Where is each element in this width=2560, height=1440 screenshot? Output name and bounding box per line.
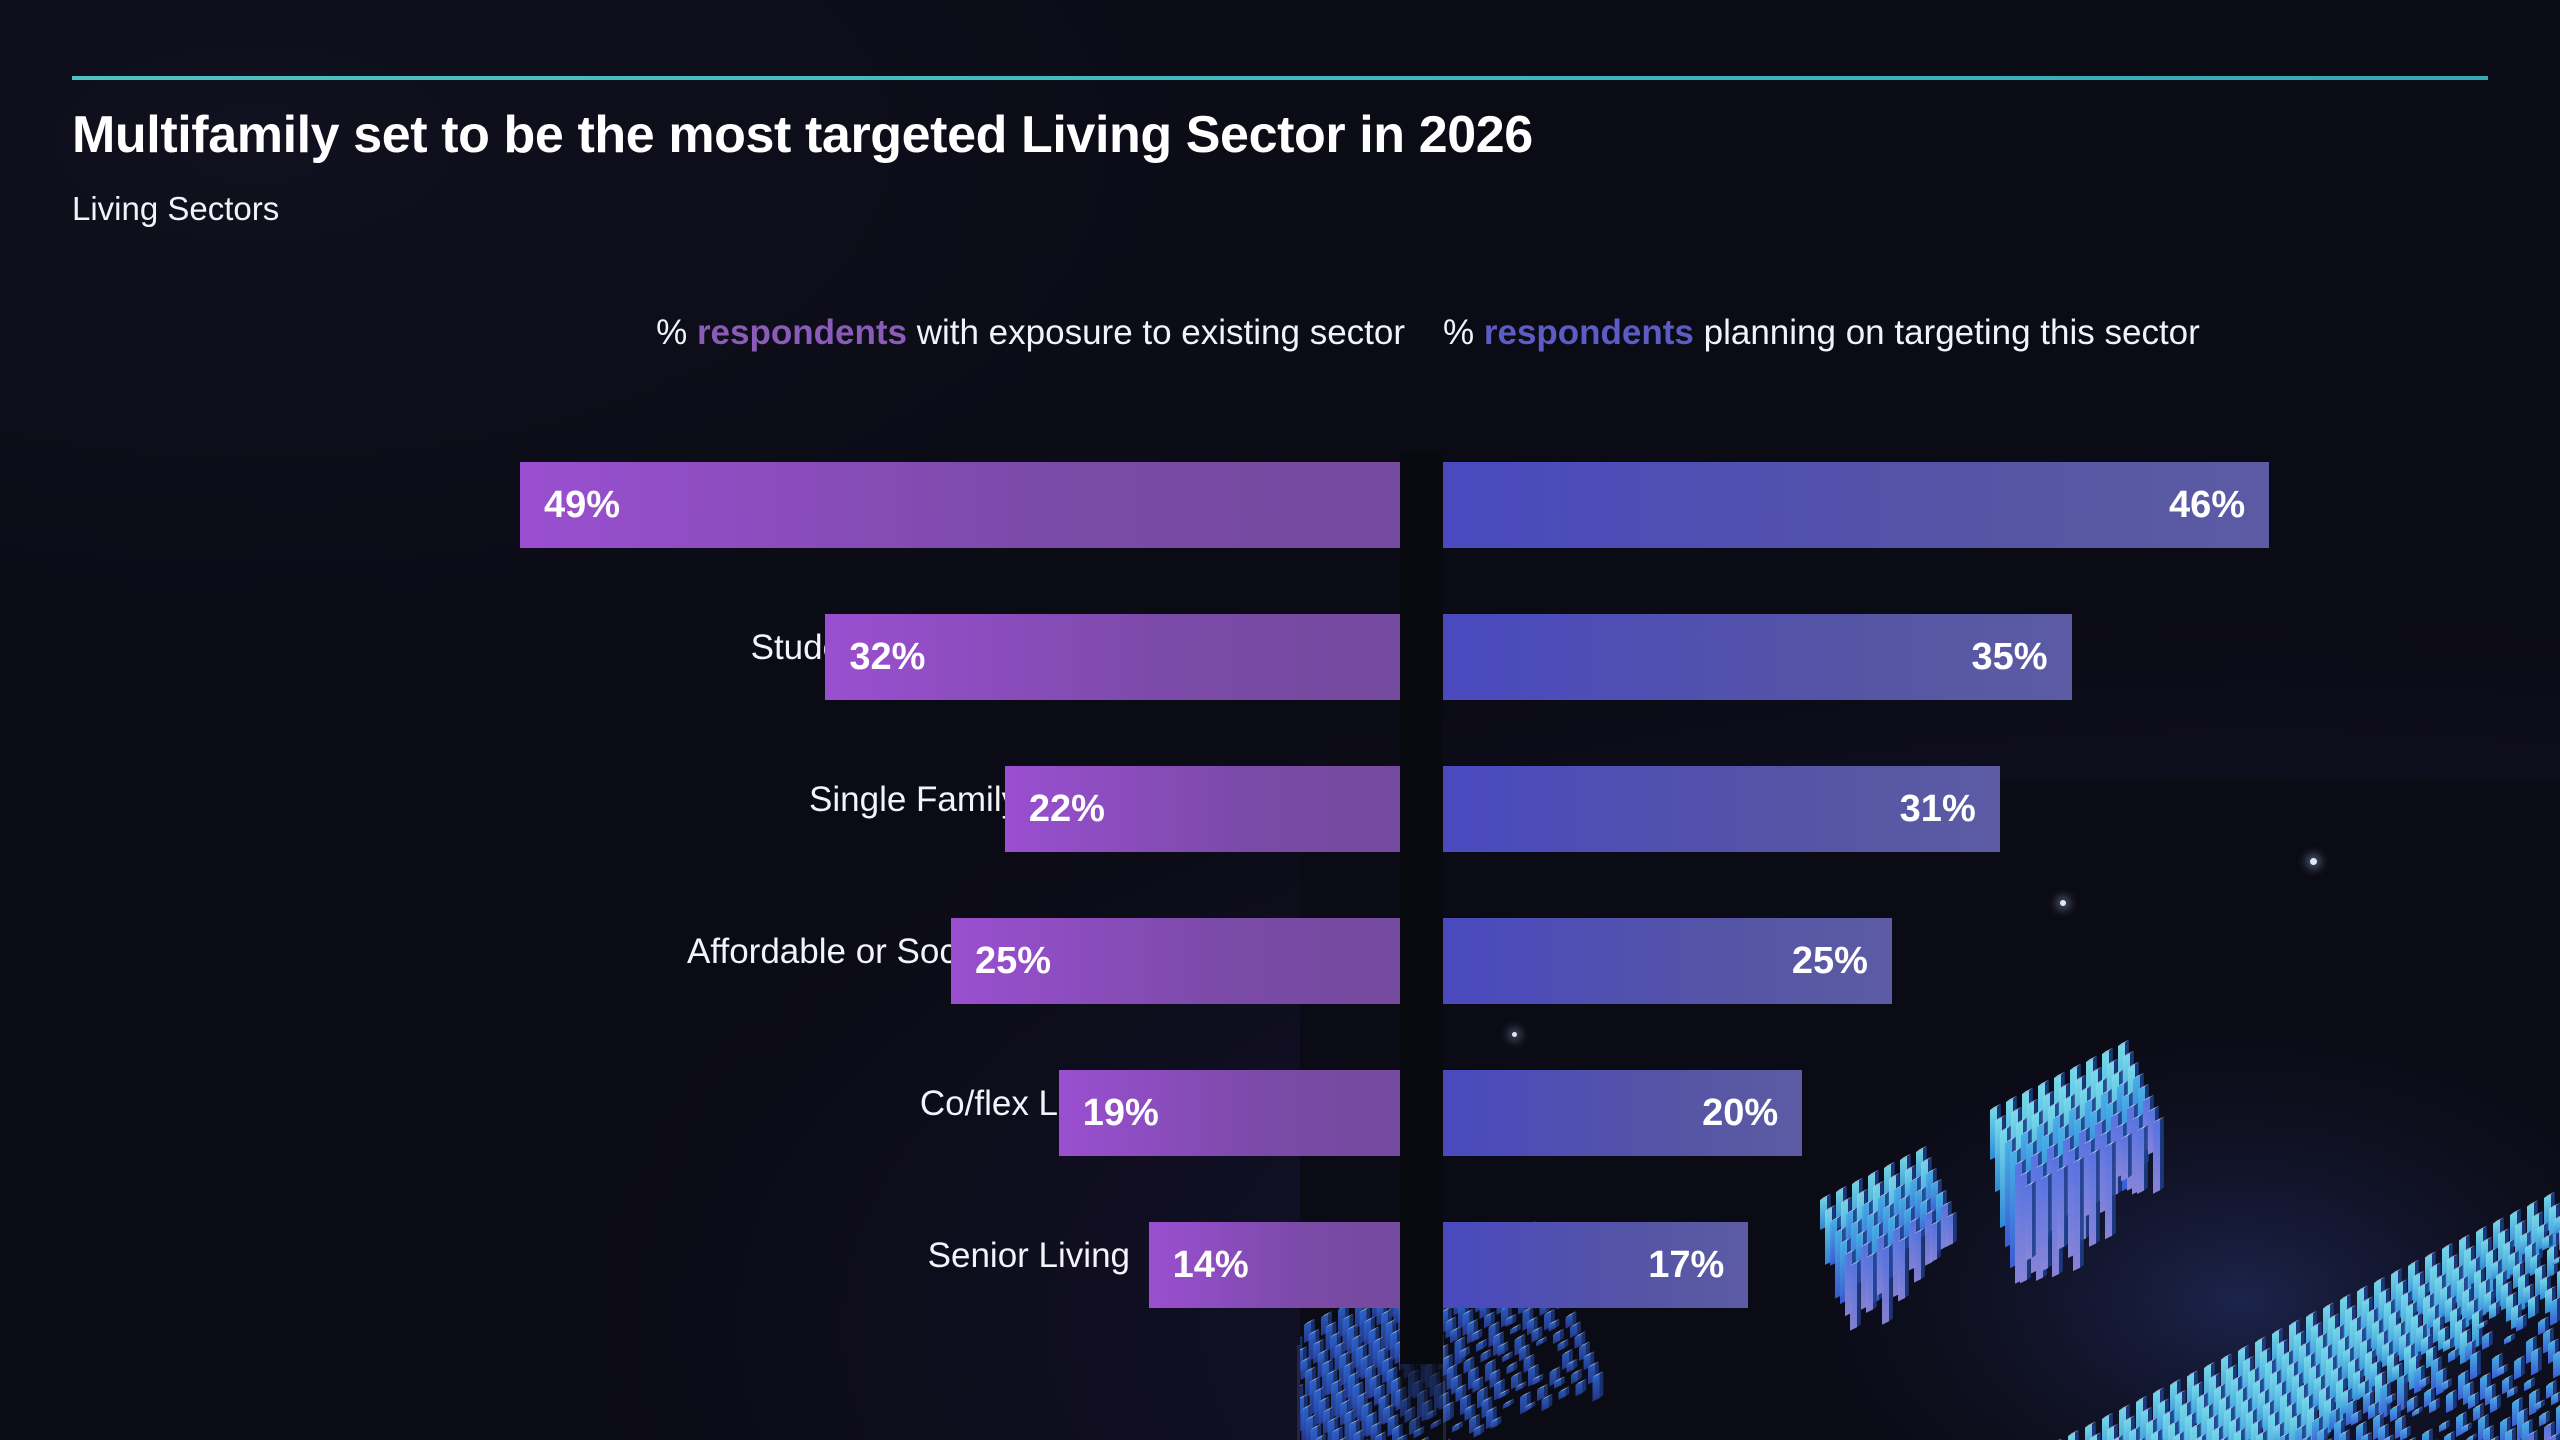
bar-value-right: 35% (1972, 636, 2048, 679)
bar-pair: 25%25% (0, 908, 2560, 1060)
bar-value-right: 20% (1702, 1092, 1778, 1135)
bar-value-left: 19% (1083, 1092, 1159, 1135)
column-header-left-highlight: respondents (697, 313, 907, 352)
bar-left-exposure[interactable]: 22% (1005, 766, 1400, 852)
chart-row: Multifamily49%46% (0, 452, 2560, 604)
column-header-left-prefix: % (656, 313, 697, 352)
row-center-gap (1400, 1060, 1443, 1212)
bar-value-right: 25% (1792, 940, 1868, 983)
slide-canvas: Multifamily set to be the most targeted … (0, 0, 2560, 1440)
chart-row: Affordable or Social Housing25%25% (0, 908, 2560, 1060)
bar-pair: 14%17% (0, 1212, 2560, 1364)
row-center-gap (1400, 908, 1443, 1060)
bar-value-right: 17% (1648, 1244, 1724, 1287)
bar-pair: 49%46% (0, 452, 2560, 604)
bar-right-targeting[interactable]: 46% (1443, 462, 2269, 548)
bar-right-targeting[interactable]: 31% (1443, 766, 2000, 852)
column-header-left-suffix: with exposure to existing sector (907, 313, 1405, 352)
accent-rule (72, 76, 2488, 80)
bar-value-right: 31% (1900, 788, 1976, 831)
bar-value-left: 25% (975, 940, 1051, 983)
page-title: Multifamily set to be the most targeted … (72, 105, 1533, 165)
row-center-gap (1400, 756, 1443, 908)
row-center-gap (1400, 452, 1443, 604)
bar-pair: 22%31% (0, 756, 2560, 908)
chart-row: Single Family Rental22%31% (0, 756, 2560, 908)
chart-row: Senior Living14%17% (0, 1212, 2560, 1364)
bar-value-right: 46% (2169, 484, 2245, 527)
column-header-right-prefix: % (1443, 313, 1484, 352)
bar-value-left: 22% (1029, 788, 1105, 831)
bar-value-left: 14% (1173, 1244, 1249, 1287)
chart-row: Student Accommodation32%35% (0, 604, 2560, 756)
bar-left-exposure[interactable]: 25% (951, 918, 1400, 1004)
column-header-left: % respondents with exposure to existing … (560, 313, 1405, 353)
row-center-gap (1400, 604, 1443, 756)
column-header-right: % respondents planning on targeting this… (1443, 313, 2343, 353)
row-center-gap (1400, 1212, 1443, 1364)
bar-pair: 32%35% (0, 604, 2560, 756)
bar-value-left: 49% (544, 484, 620, 527)
bar-left-exposure[interactable]: 49% (520, 462, 1400, 548)
bar-right-targeting[interactable]: 25% (1443, 918, 1892, 1004)
bar-left-exposure[interactable]: 32% (825, 614, 1400, 700)
chart-row: Co/flex Living19%20% (0, 1060, 2560, 1212)
bar-left-exposure[interactable]: 14% (1149, 1222, 1400, 1308)
bar-left-exposure[interactable]: 19% (1059, 1070, 1400, 1156)
column-header-right-suffix: planning on targeting this sector (1694, 313, 2200, 352)
bar-pair: 19%20% (0, 1060, 2560, 1212)
page-subtitle: Living Sectors (72, 190, 279, 228)
bar-right-targeting[interactable]: 35% (1443, 614, 2072, 700)
diverging-bar-chart: Multifamily49%46%Student Accommodation32… (0, 452, 2560, 1364)
bar-right-targeting[interactable]: 20% (1443, 1070, 1802, 1156)
column-header-right-highlight: respondents (1484, 313, 1694, 352)
bar-right-targeting[interactable]: 17% (1443, 1222, 1748, 1308)
bar-value-left: 32% (849, 636, 925, 679)
